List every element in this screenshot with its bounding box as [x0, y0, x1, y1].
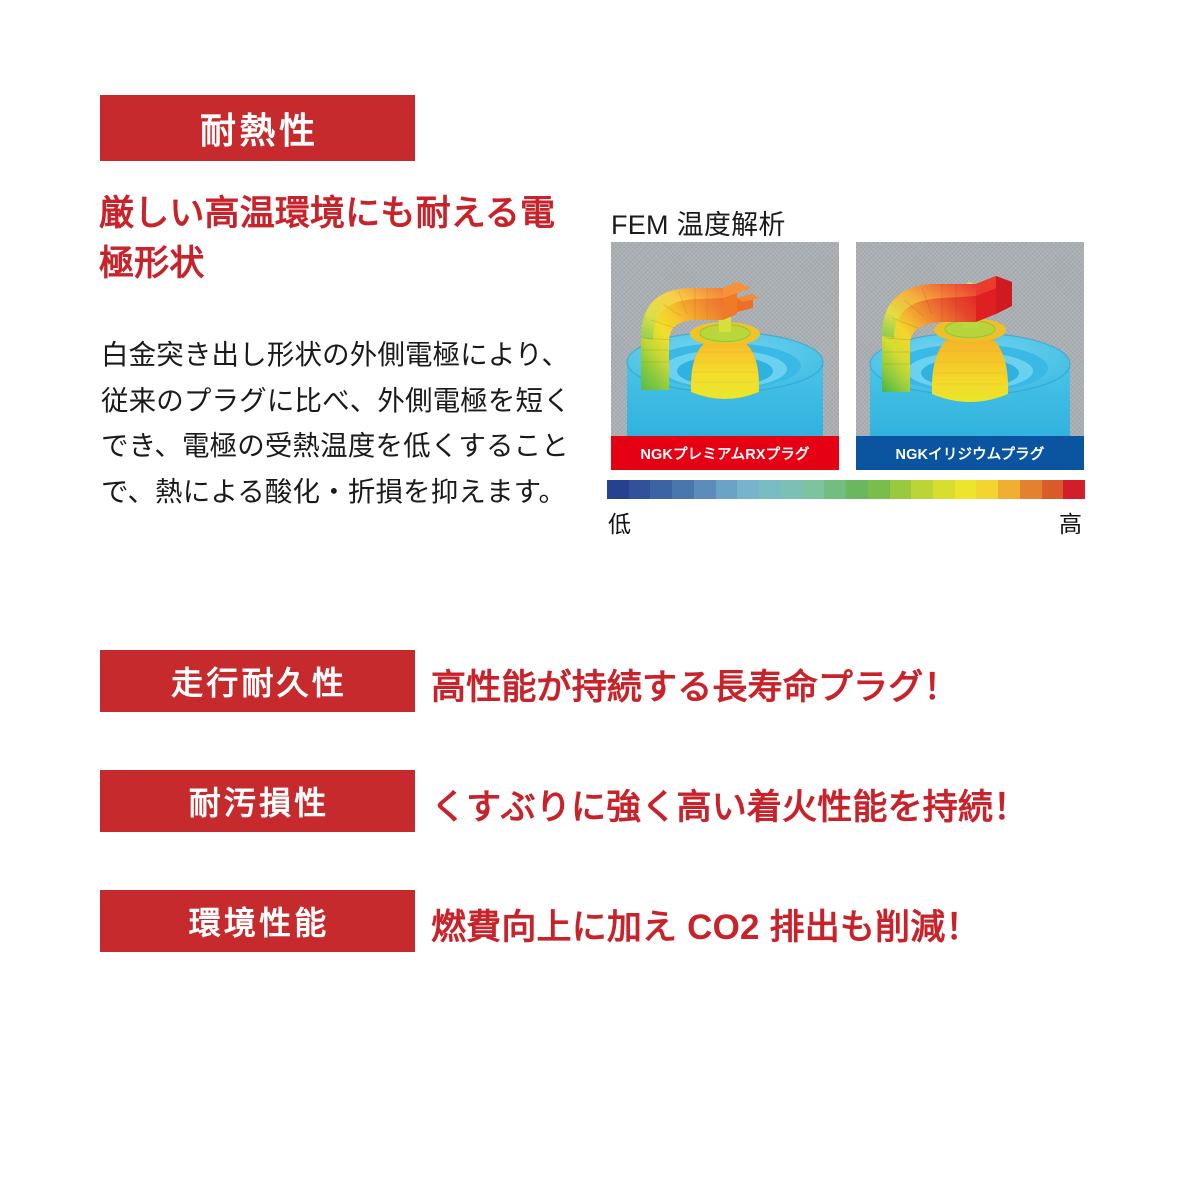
feature-badge-fouling-resistance: 耐汚損性 [100, 770, 415, 832]
scale-swatch-17 [976, 480, 998, 499]
fem-card-iridium: NGKイリジウムプラグ [856, 242, 1084, 470]
fem-analysis-title: FEM 温度解析 [611, 203, 786, 242]
scale-swatch-4 [694, 480, 716, 499]
feature-badge-environmental-performance: 環境性能 [100, 890, 415, 952]
fem-card-premium-rx: NGKプレミアムRXプラグ [611, 242, 839, 470]
feature-text-fouling-resistance: くすぶりに強く高い着火性能を持続！ [431, 779, 1028, 830]
feature-text-environmental-performance: 燃費向上に加え CO2 排出も削減！ [431, 899, 981, 950]
scale-swatch-5 [716, 480, 738, 499]
scale-swatch-2 [650, 480, 672, 499]
heat-resistance-body-text: 白金突き出し形状の外側電極により、従来のプラグに比べ、外側電極を短くでき、電極の… [101, 332, 583, 515]
heat-resistance-subheading: 厳しい高温環境にも耐える電極形状 [99, 189, 569, 288]
scale-swatch-7 [759, 480, 781, 499]
scale-swatch-8 [781, 480, 803, 499]
scale-swatch-15 [933, 480, 955, 499]
scale-swatch-12 [868, 480, 890, 499]
scale-swatch-6 [737, 480, 759, 499]
fem-card-label-iridium: NGKイリジウムプラグ [856, 436, 1084, 470]
scale-swatch-1 [629, 480, 651, 499]
scale-label-high: 高 [1059, 505, 1082, 539]
scale-swatch-10 [824, 480, 846, 499]
scale-swatch-0 [607, 480, 629, 499]
scale-swatch-13 [890, 480, 912, 499]
scale-label-low: 低 [608, 505, 631, 539]
feature-badge-driving-durability: 走行耐久性 [100, 650, 415, 712]
fem-card-label-premium-rx: NGKプレミアムRXプラグ [611, 436, 839, 470]
section-badge-heat-resistance: 耐熱性 [100, 95, 415, 161]
scale-swatch-3 [672, 480, 694, 499]
scale-swatch-11 [846, 480, 868, 499]
scale-swatch-14 [911, 480, 933, 499]
scale-swatch-9 [803, 480, 825, 499]
scale-swatch-16 [955, 480, 977, 499]
scale-swatch-18 [998, 480, 1020, 499]
scale-swatch-20 [1042, 480, 1064, 499]
feature-text-driving-durability: 高性能が持続する長寿命プラグ！ [431, 659, 959, 710]
temperature-color-scale [607, 480, 1085, 499]
scale-swatch-19 [1020, 480, 1042, 499]
scale-swatch-21 [1063, 480, 1085, 499]
